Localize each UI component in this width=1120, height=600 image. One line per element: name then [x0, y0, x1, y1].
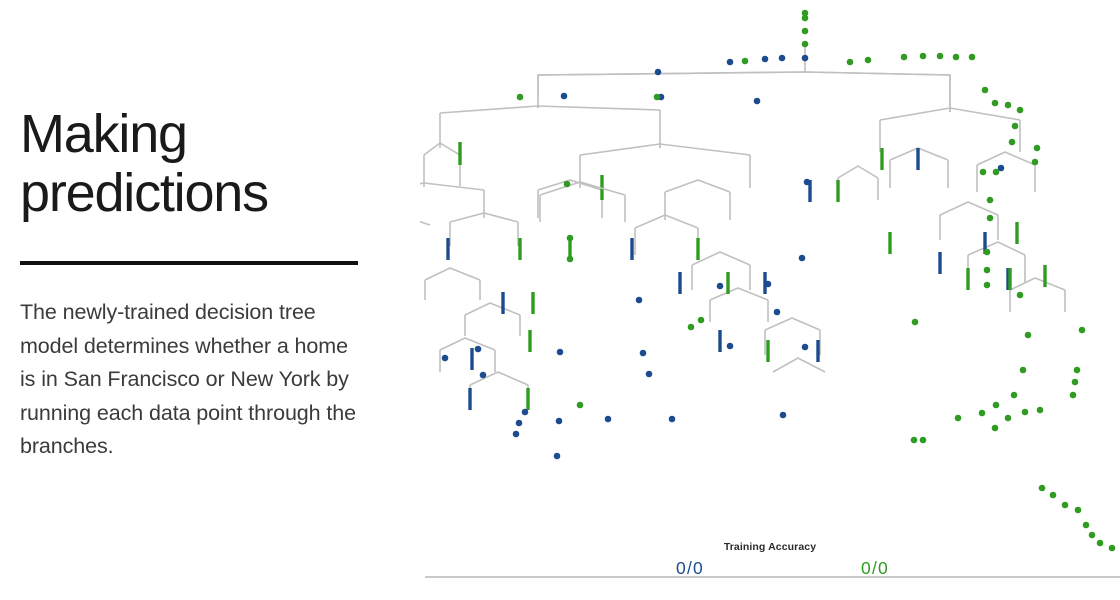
decision-tree-visualization: Training Accuracy 0/0 0/0 [420, 0, 1120, 600]
data-point [564, 181, 571, 188]
data-point [561, 93, 568, 100]
data-point [802, 15, 809, 22]
data-point [987, 197, 994, 204]
data-point [1005, 102, 1012, 109]
data-point [979, 410, 986, 417]
data-point [698, 317, 705, 324]
data-point [987, 215, 994, 222]
data-point [742, 58, 749, 65]
data-point [1070, 392, 1077, 399]
data-point [655, 69, 662, 76]
data-point [1012, 123, 1019, 130]
data-point [993, 169, 1000, 176]
data-point [802, 55, 809, 62]
scatter-series-san-francisco [442, 55, 1120, 460]
tree-leaf-markers [448, 148, 1045, 410]
title-divider [20, 261, 358, 265]
data-point [1062, 502, 1069, 509]
data-point [779, 55, 786, 62]
tree-scatter-svg [420, 0, 1120, 600]
data-point [802, 28, 809, 35]
data-point [1050, 492, 1057, 499]
data-point [475, 346, 482, 353]
data-point [669, 416, 676, 423]
data-point [567, 256, 574, 263]
data-point [727, 59, 734, 66]
data-point [754, 98, 761, 105]
data-point [654, 94, 661, 101]
page-title: Making predictions [20, 105, 400, 223]
data-point [636, 297, 643, 304]
data-point [901, 54, 908, 61]
data-point [920, 53, 927, 60]
data-point [517, 94, 524, 101]
data-point [1020, 367, 1027, 374]
data-point [984, 249, 991, 256]
accuracy-value-new-york: 0/0 [835, 558, 915, 579]
training-accuracy-label: Training Accuracy [420, 541, 1120, 553]
data-point [1083, 522, 1090, 529]
data-point [557, 349, 564, 356]
data-point [1022, 409, 1029, 416]
data-point [992, 425, 999, 432]
data-point [605, 416, 612, 423]
data-point [513, 431, 520, 438]
data-point [1009, 139, 1016, 146]
data-point [522, 409, 529, 416]
left-text-panel: Making predictions The newly-trained dec… [0, 0, 420, 600]
data-point [969, 54, 976, 61]
data-point [984, 267, 991, 274]
data-point [993, 402, 1000, 409]
data-point [937, 53, 944, 60]
data-point [516, 420, 523, 427]
data-point [804, 179, 811, 186]
data-point [847, 59, 854, 66]
data-point [912, 319, 919, 326]
data-point [727, 343, 734, 350]
data-point [765, 281, 772, 288]
data-point [1017, 107, 1024, 114]
data-point [980, 169, 987, 176]
data-point [480, 372, 487, 379]
accuracy-axis-line [425, 576, 1120, 578]
data-point [688, 324, 695, 331]
data-point [1039, 485, 1046, 492]
slide-root: Making predictions The newly-trained dec… [0, 0, 1120, 600]
data-point [865, 57, 872, 64]
data-point [717, 283, 724, 290]
data-point [984, 282, 991, 289]
data-point [442, 355, 449, 362]
data-point [1034, 145, 1041, 152]
data-point [1079, 327, 1086, 334]
data-point [802, 344, 809, 351]
data-point [1072, 379, 1079, 386]
tree-branches [420, 45, 1065, 408]
data-point [1037, 407, 1044, 414]
data-point [1089, 532, 1096, 539]
data-point [1017, 292, 1024, 299]
data-point [920, 437, 927, 444]
data-point [762, 56, 769, 63]
data-point [1025, 332, 1032, 339]
data-point [646, 371, 653, 378]
data-point [953, 54, 960, 61]
data-point [799, 255, 806, 262]
body-paragraph: The newly-trained decision tree model de… [20, 296, 365, 464]
data-point [567, 235, 574, 242]
data-point [1032, 159, 1039, 166]
data-point [640, 350, 647, 357]
data-point [554, 453, 561, 460]
data-point [911, 437, 918, 444]
data-point [577, 402, 584, 409]
data-point [802, 41, 809, 48]
data-point [1074, 367, 1081, 374]
data-point [992, 100, 999, 107]
data-point [556, 418, 563, 425]
data-point [1011, 392, 1018, 399]
data-point [955, 415, 962, 422]
data-point [982, 87, 989, 94]
data-point [774, 309, 781, 316]
data-point [1005, 415, 1012, 422]
data-point [780, 412, 787, 419]
accuracy-value-san-francisco: 0/0 [650, 558, 730, 579]
data-point [1075, 507, 1082, 514]
